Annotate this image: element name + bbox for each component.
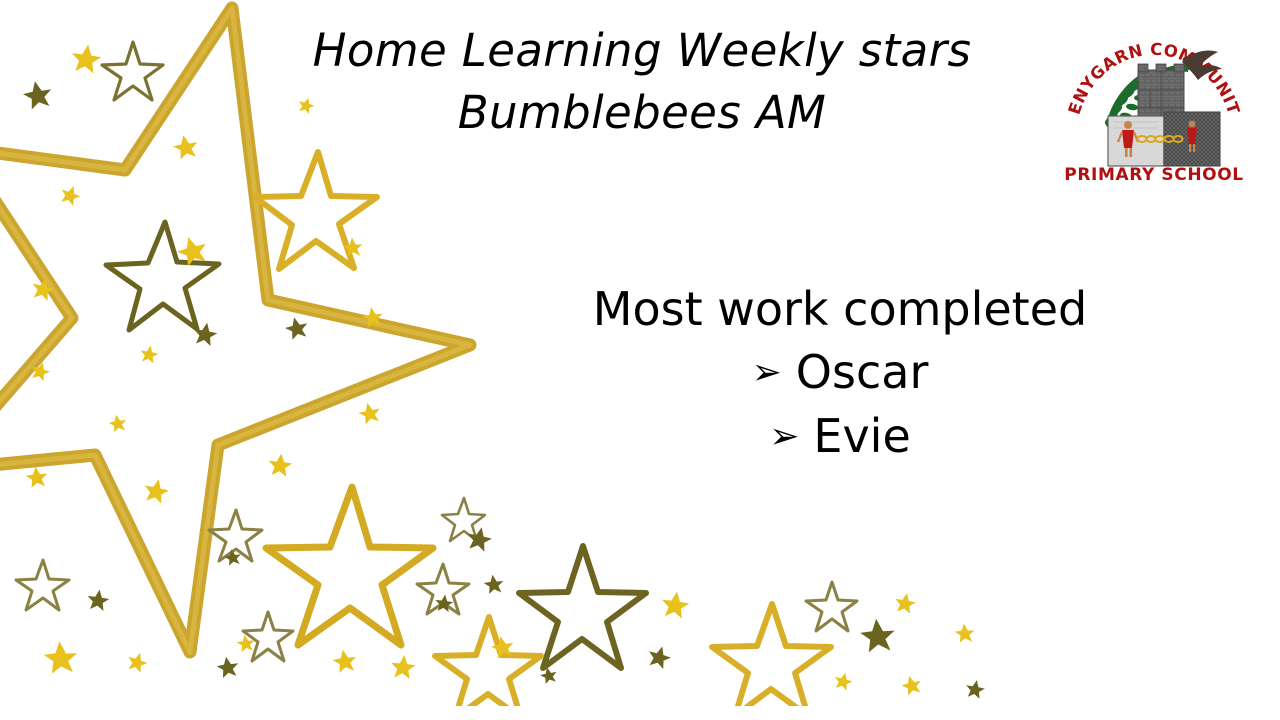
small-outline-star-1 bbox=[102, 42, 163, 100]
medium-outline-star-dark-lower bbox=[519, 546, 646, 668]
title-line-1: Home Learning Weekly stars bbox=[262, 20, 1022, 82]
small-outline-star-6 bbox=[806, 582, 857, 631]
arrow-bullet-icon: ➢ bbox=[769, 419, 799, 455]
small-outline-star-2 bbox=[16, 560, 69, 610]
small-outline-star-3 bbox=[209, 510, 262, 561]
logo-bottom-text: PRIMARY SCHOOL bbox=[1064, 165, 1243, 185]
award-name-list: ➢Oscar ➢Evie bbox=[552, 340, 1128, 468]
content-heading: Most work completed bbox=[552, 278, 1128, 340]
medium-outline-star-dark-upper bbox=[106, 222, 219, 330]
list-item: ➢Evie bbox=[552, 404, 1128, 468]
list-item: ➢Oscar bbox=[552, 340, 1128, 404]
arrow-bullet-icon: ➢ bbox=[752, 355, 782, 391]
title-line-2: Bumblebees AM bbox=[262, 82, 1022, 144]
medium-outline-star-gold-right bbox=[712, 604, 831, 706]
small-outline-star-4 bbox=[243, 612, 293, 661]
small-outline-star-7 bbox=[442, 498, 485, 541]
list-item-label: Oscar bbox=[796, 340, 929, 404]
list-item-label: Evie bbox=[813, 404, 910, 468]
medium-outline-star-gold-bottomleft bbox=[435, 617, 541, 706]
small-outline-star-5 bbox=[417, 564, 469, 614]
medium-outline-star-gold-lower bbox=[266, 487, 433, 645]
medium-outline-star-gold-upper bbox=[255, 152, 377, 269]
slide-content: Most work completed ➢Oscar ➢Evie bbox=[552, 278, 1128, 468]
school-logo: PENYGARN COMMUNITY bbox=[1064, 8, 1244, 186]
slide-title: Home Learning Weekly stars Bumblebees AM bbox=[262, 20, 1022, 144]
slide-canvas: PENYGARN COMMUNITY bbox=[0, 0, 1280, 720]
